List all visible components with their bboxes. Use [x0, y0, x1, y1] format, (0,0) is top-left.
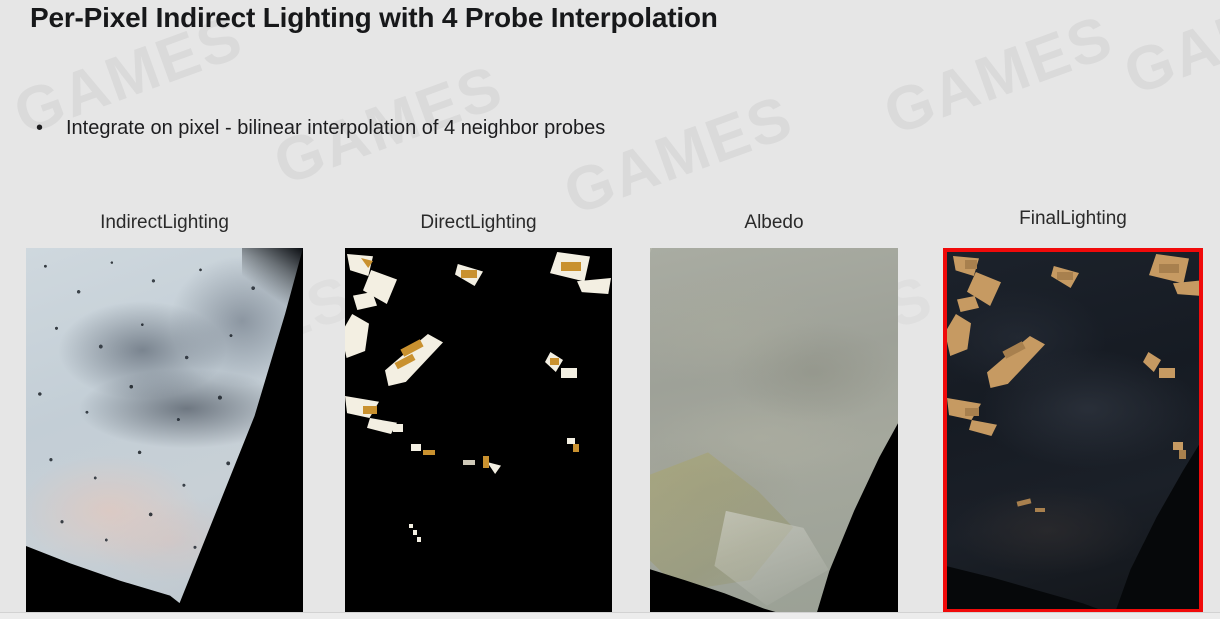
direct-speck: [413, 530, 417, 535]
final-highlight-dark: [1057, 272, 1073, 280]
direct-highlight-warm: [561, 262, 581, 271]
panel-albedo: Albedo: [650, 248, 898, 613]
direct-speck: [409, 524, 413, 528]
direct-highlight-warm: [363, 406, 377, 414]
image-final-lighting: [943, 248, 1203, 613]
final-speck: [1035, 508, 1045, 512]
image-indirect-lighting: [26, 248, 303, 613]
panel-caption-direct-lighting: DirectLighting: [345, 212, 612, 234]
direct-speck-warm: [483, 456, 489, 468]
final-highlight-dark: [965, 260, 977, 269]
final-speck: [1179, 450, 1186, 459]
bullet-text: Integrate on pixel - bilinear interpolat…: [66, 115, 605, 141]
direct-speck: [463, 460, 475, 465]
direct-highlight-warm: [550, 358, 559, 365]
direct-speck: [411, 444, 421, 451]
direct-speck-warm: [573, 444, 579, 452]
final-speck: [1173, 442, 1183, 450]
slide-body: Per-Pixel Indirect Lighting with 4 Probe…: [0, 0, 1220, 619]
panel-final-lighting: FinalLighting: [943, 248, 1203, 613]
direct-highlight-warm: [461, 270, 477, 278]
panel-direct-lighting: DirectLighting: [345, 248, 612, 613]
panel-caption-indirect-lighting: IndirectLighting: [26, 212, 303, 234]
final-highlight-dark: [1159, 264, 1179, 273]
final-highlight-dark: [965, 408, 979, 416]
bullet-marker: •: [36, 115, 66, 141]
direct-highlight: [561, 368, 577, 378]
page-title: Per-Pixel Indirect Lighting with 4 Probe…: [30, 2, 718, 34]
direct-highlight: [393, 424, 403, 432]
bottom-strip: [0, 612, 1220, 619]
direct-speck: [417, 537, 421, 542]
direct-speck-warm: [423, 450, 435, 455]
image-albedo: [650, 248, 898, 613]
bullet-list-item: • Integrate on pixel - bilinear interpol…: [36, 115, 605, 141]
panel-caption-albedo: Albedo: [650, 212, 898, 234]
image-direct-lighting: [345, 248, 612, 613]
panel-indirect-lighting: IndirectLighting: [26, 248, 303, 613]
panel-caption-final-lighting: FinalLighting: [943, 208, 1203, 230]
final-highlight: [1159, 368, 1175, 378]
